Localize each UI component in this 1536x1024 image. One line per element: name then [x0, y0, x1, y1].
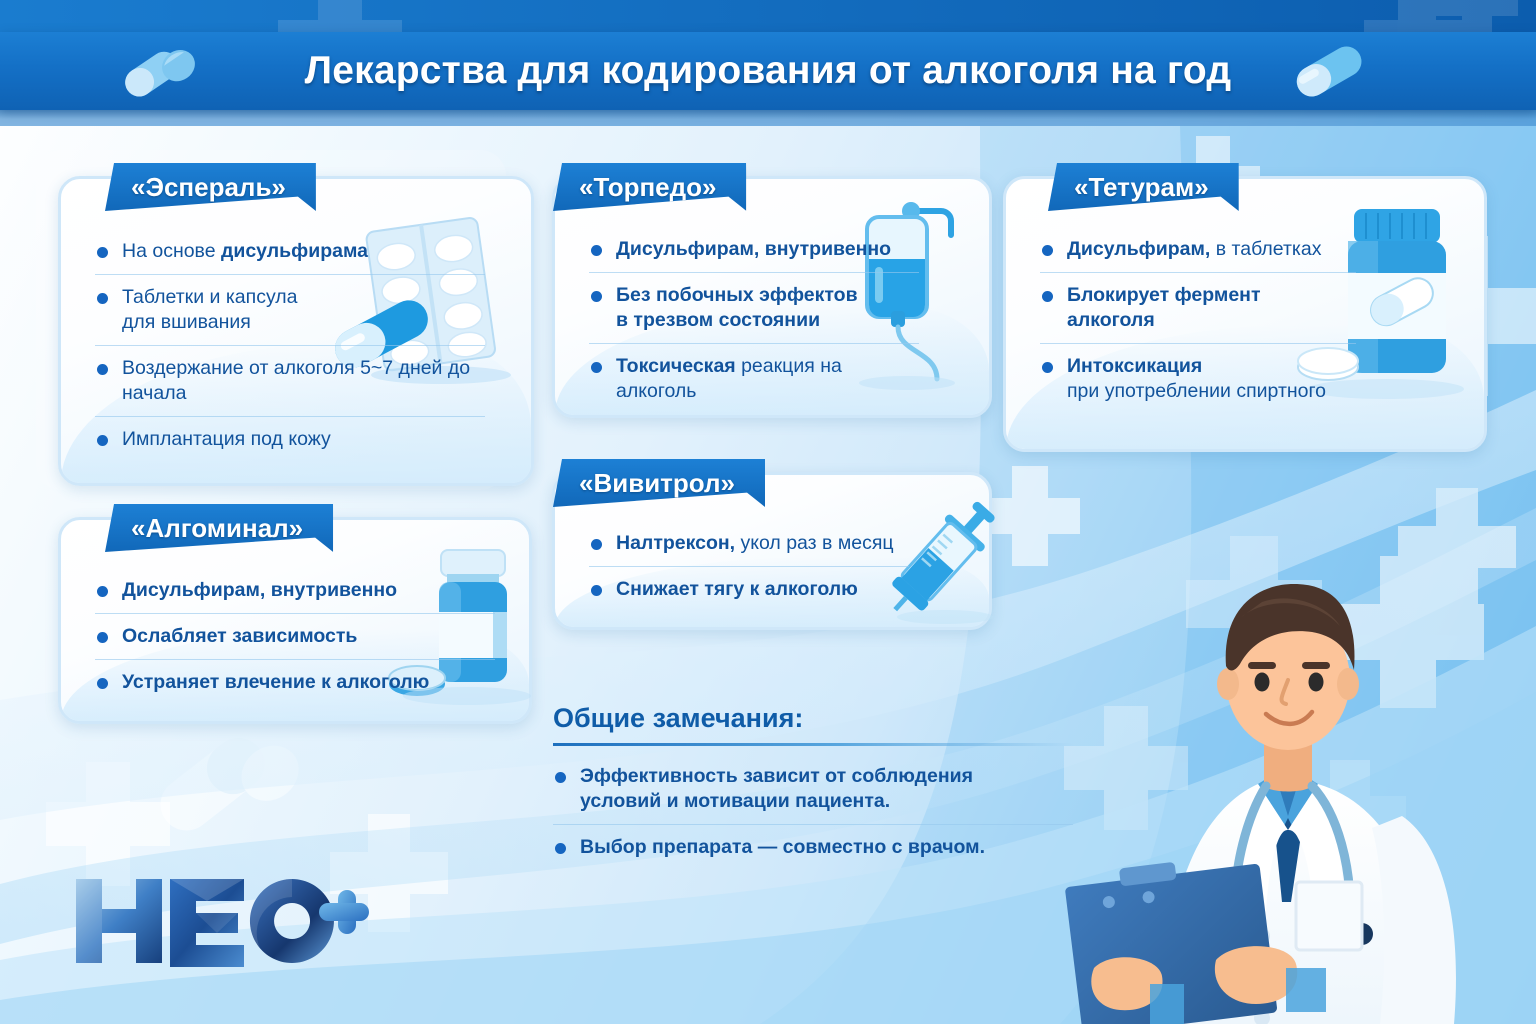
list-item: Интоксикация при употреблении спиртного — [1040, 354, 1356, 404]
list-item: Устраняет влечение к алкоголю — [95, 670, 495, 695]
infographic-poster: Лекарства для кодирования от алкоголя на… — [0, 0, 1536, 1024]
list-item: Ослабляет зависимость — [95, 624, 495, 660]
list-item: Налтрексон, укол раз в месяц — [589, 531, 909, 567]
notes-title: Общие замечания: — [553, 703, 1073, 734]
header-banner: Лекарства для кодирования от алкоголя на… — [0, 32, 1536, 110]
page-title: Лекарства для кодирования от алкоголя на… — [0, 32, 1536, 110]
card-teturam: «Тетурам» Дисульфирам, в таблетках Блоки… — [1003, 176, 1487, 452]
card-vivitrol: «Вивитрол» Налтрексон, укол раз в месяц … — [552, 472, 992, 630]
bullet-list-algominal: Дисульфирам, внутривенно Ослабляет завис… — [95, 578, 495, 695]
list-item: Таблетки и капсула для вшивания — [95, 285, 485, 346]
notes-divider — [553, 743, 1073, 746]
list-item: Выбор препарата — совместно с врачом. — [553, 835, 1073, 860]
bullet-list-esperal: На основе дисульфирама Таблетки и капсул… — [95, 239, 485, 452]
list-item: Токсическая реакция на алкоголь — [589, 354, 919, 404]
list-item: Воздержание от алкоголя 5~7 дней до нача… — [95, 356, 485, 417]
card-algominal: «Алгоминал» Дисульфирам, внутривенно Осл… — [58, 517, 532, 724]
doctor-with-clipboard-illustration — [1050, 498, 1520, 1024]
bullet-list-vivitrol: Налтрексон, укол раз в месяц Снижает тяг… — [589, 531, 909, 602]
card-esperal: «Эспераль» На основе дисульфирама Таблет… — [58, 176, 534, 486]
list-item: Дисульфирам, внутривенно — [589, 237, 919, 273]
list-item: Дисульфирам, внутривенно — [95, 578, 495, 614]
bullet-list-notes: Эффективность зависит от соблюдения усло… — [553, 764, 1073, 860]
list-item: Блокирует фермент алкоголя — [1040, 283, 1356, 344]
list-item: Снижает тягу к алкоголю — [589, 577, 909, 602]
bullet-list-teturam: Дисульфирам, в таблетках Блокирует ферме… — [1040, 237, 1356, 404]
bullet-list-torpedo: Дисульфирам, внутривенно Без побочных эф… — [589, 237, 919, 404]
card-torpedo: «Торпедо» Дисульфирам, внутривенно Без п… — [552, 176, 992, 418]
neo-plus-logo: НЕО+ — [70, 873, 370, 969]
list-item: Имплантация под кожу — [95, 427, 485, 452]
list-item: Без побочных эффектов в трезвом состояни… — [589, 283, 919, 344]
general-notes-section: Общие замечания: Эффективность зависит о… — [553, 703, 1073, 860]
list-item: Эффективность зависит от соблюдения усло… — [553, 764, 1073, 825]
list-item: Дисульфирам, в таблетках — [1040, 237, 1356, 273]
list-item: На основе дисульфирама — [95, 239, 485, 275]
